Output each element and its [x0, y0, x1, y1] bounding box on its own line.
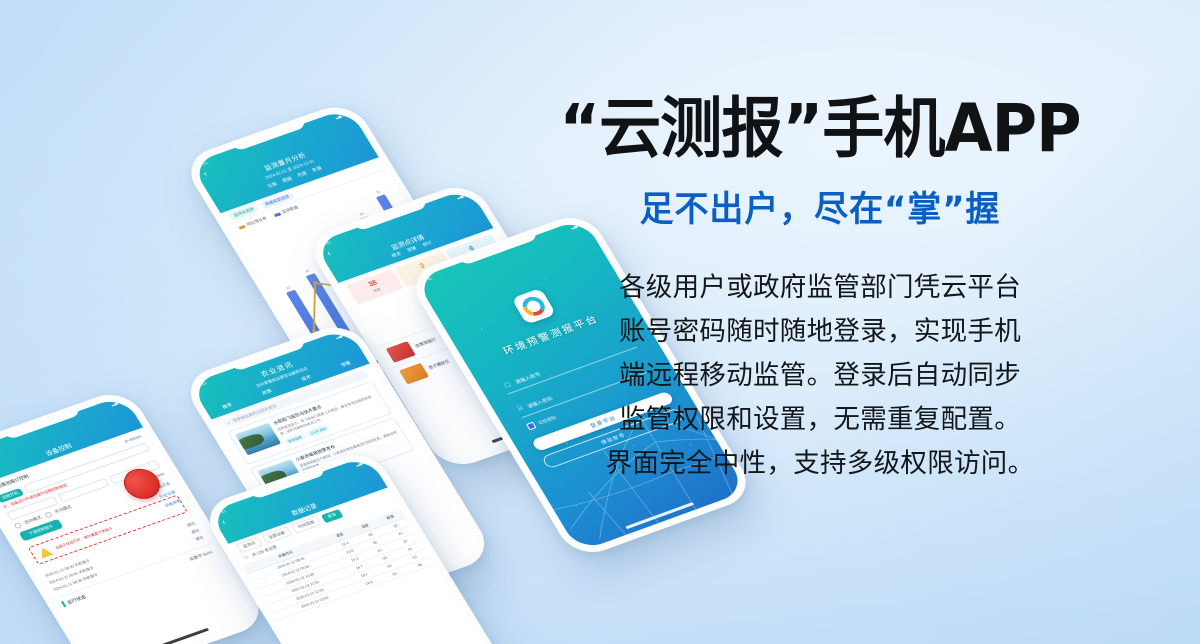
tab-warning[interactable]: 预警	[340, 360, 352, 368]
tab-alerts[interactable]: 预警	[406, 245, 418, 253]
tab-recommend[interactable]: 推荐	[221, 402, 233, 410]
tab-overview[interactable]: 概览	[391, 251, 403, 259]
device-thumb-icon	[399, 363, 429, 385]
chevron-left-icon[interactable]: ‹	[202, 170, 209, 178]
footer-label: 运行状态	[66, 594, 87, 606]
hero-copy: “云测报”手机APP 足不出户，尽在“掌”握 各级用户或政府监管部门凭云平台 账…	[470, 92, 1170, 486]
tab-year[interactable]: 年报	[311, 165, 323, 173]
chevron-left-icon[interactable]: ‹	[220, 518, 227, 526]
status-time: 9:41	[217, 508, 227, 515]
description-line: 账号密码随时随地登录，实现手机	[470, 310, 1170, 354]
tab-month[interactable]: 月报	[296, 171, 308, 179]
legend-swatch-gold	[238, 224, 245, 229]
status-time: 9:41	[198, 380, 208, 387]
article-thumbnail	[235, 423, 281, 456]
description-paragraph: 各级用户或政府监管部门凭云平台 账号密码随时随地登录，实现手机 端远程移动监管。…	[470, 266, 1170, 486]
status-time: 9:41	[198, 160, 208, 167]
status-time: 9:41	[322, 240, 332, 247]
radio-manual[interactable]	[44, 511, 53, 518]
status-icons: ▂▄▮	[334, 332, 345, 339]
promo-banner: 9:41 ▂▄ ▮ ‹ 监测量月分析 2024-01-01 至 2024-12-…	[0, 0, 1200, 644]
description-line: 各级用户或政府监管部门凭云平台	[470, 266, 1170, 310]
page-title: “云测报”手机APP	[491, 92, 1149, 166]
home-indicator	[143, 628, 209, 644]
tab-tech[interactable]: 技术	[301, 374, 313, 382]
description-line: 端远程移动监管。登录后自动同步	[470, 354, 1170, 398]
tab-policy[interactable]: 政策	[261, 388, 273, 396]
description-line: 界面完全中性，支持多级权限访问。	[470, 442, 1170, 486]
status-icons: ▂▄▮	[354, 460, 365, 467]
legend-swatch-blue	[274, 212, 281, 217]
info-icon: ⓘ	[243, 554, 250, 561]
section-accent-bar	[61, 601, 67, 608]
tab-week[interactable]: 周报	[281, 176, 293, 184]
search-icon: ⌕	[226, 420, 231, 425]
tab-stats[interactable]: 统计	[422, 240, 434, 248]
status-icons: ▂▄▮	[455, 192, 466, 199]
page-subtitle: 足不出户，尽在“掌”握	[481, 188, 1160, 232]
status-time: 9:41	[423, 276, 433, 283]
footer-value: 采集中 5min	[188, 549, 213, 562]
tab-day[interactable]: 日报	[266, 181, 278, 189]
status-icons: ▂▄▮	[110, 399, 121, 406]
description-line: 监管权限和设置，无需重复配置。	[470, 398, 1170, 442]
warning-triangle-icon	[36, 546, 53, 559]
status-icons: ▂▄ ▮	[334, 112, 346, 120]
chevron-left-icon[interactable]: ‹	[325, 250, 332, 258]
device-thumb-icon	[386, 341, 416, 363]
radio-auto[interactable]	[13, 522, 22, 529]
